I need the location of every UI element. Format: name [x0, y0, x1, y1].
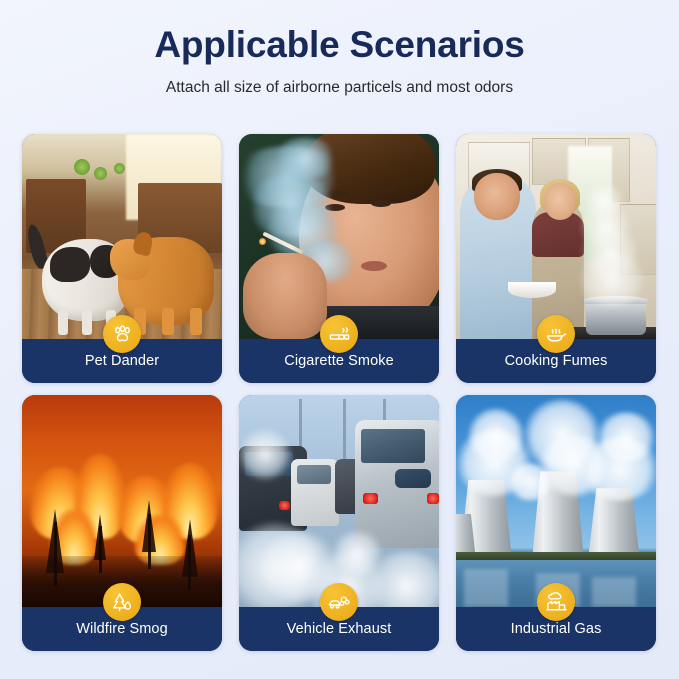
- scenario-label: Wildfire Smog: [76, 621, 168, 637]
- scenario-card-industrial-gas[interactable]: Industrial Gas: [456, 395, 656, 651]
- scenario-card-cigarette-smoke[interactable]: Cigarette Smoke: [239, 134, 439, 383]
- scenario-grid: Pet Dander: [22, 134, 656, 651]
- scenario-label: Cigarette Smoke: [284, 353, 394, 369]
- paw-print-icon: [103, 315, 141, 353]
- pet-dander-photo: [22, 134, 222, 339]
- scenario-label: Pet Dander: [85, 353, 159, 369]
- scenario-label: Industrial Gas: [511, 621, 602, 637]
- cigarette-smoke-photo: [239, 134, 439, 339]
- factory-icon: [537, 583, 575, 621]
- scenario-card-pet-dander[interactable]: Pet Dander: [22, 134, 222, 383]
- scenario-card-cooking-fumes[interactable]: Cooking Fumes: [456, 134, 656, 383]
- wildfire-smog-photo: [22, 395, 222, 607]
- cigarette-icon: [320, 315, 358, 353]
- page-title: Applicable Scenarios: [0, 24, 679, 67]
- applicable-scenarios-page: Applicable Scenarios Attach all size of …: [0, 0, 679, 679]
- vehicle-exhaust-photo: [239, 395, 439, 607]
- page-header: Applicable Scenarios Attach all size of …: [0, 0, 679, 97]
- page-subtitle: Attach all size of airborne particels an…: [0, 79, 679, 97]
- scenario-card-wildfire-smog[interactable]: Wildfire Smog: [22, 395, 222, 651]
- car-exhaust-icon: [320, 583, 358, 621]
- scenario-card-vehicle-exhaust[interactable]: Vehicle Exhaust: [239, 395, 439, 651]
- burning-forest-icon: [103, 583, 141, 621]
- scenario-label: Cooking Fumes: [505, 353, 608, 369]
- scenario-label: Vehicle Exhaust: [287, 621, 392, 637]
- cooking-fumes-photo: [456, 134, 656, 339]
- industrial-gas-photo: [456, 395, 656, 607]
- cooking-pan-icon: [537, 315, 575, 353]
